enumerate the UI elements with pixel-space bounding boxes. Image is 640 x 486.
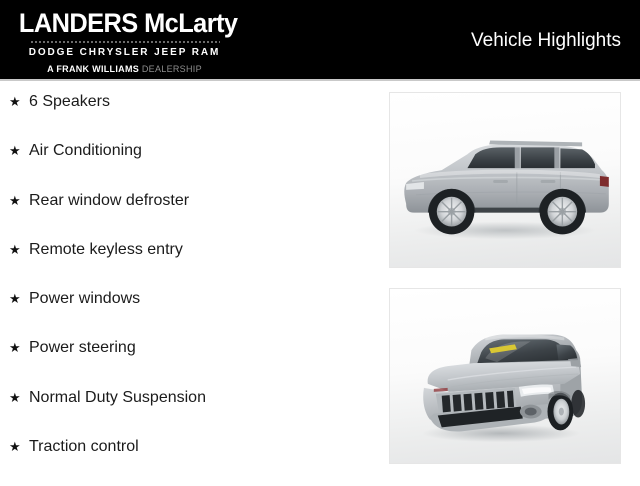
dealer-logo-tagline-strong: A FRANK WILLIAMS (47, 64, 139, 74)
feature-label: Rear window defroster (29, 191, 189, 211)
list-item: ★ Power steering (0, 338, 380, 387)
star-bullet-icon: ★ (9, 240, 21, 260)
feature-label: Normal Duty Suspension (29, 388, 206, 408)
list-item: ★ 6 Speakers (0, 92, 380, 141)
vehicle-front-three-quarter-illustration (390, 289, 620, 463)
star-bullet-icon: ★ (9, 338, 21, 358)
star-bullet-icon: ★ (9, 289, 21, 309)
list-item: ★ Normal Duty Suspension (0, 388, 380, 437)
vehicle-photo-side-profile[interactable] (389, 92, 621, 268)
list-item: ★ Rear window defroster (0, 191, 380, 240)
page-header: LANDERS McLarty DODGE CHRYSLER JEEP RAM … (0, 0, 640, 79)
dotted-divider-icon (30, 41, 220, 43)
list-item: ★ Air Conditioning (0, 141, 380, 190)
dealer-logo: LANDERS McLarty DODGE CHRYSLER JEEP RAM … (17, 8, 232, 75)
feature-label: Power steering (29, 338, 136, 358)
dealer-logo-tagline-light: DEALERSHIP (142, 64, 202, 74)
feature-label: Air Conditioning (29, 141, 142, 161)
dealer-logo-brands: DODGE CHRYSLER JEEP RAM (17, 47, 232, 59)
star-bullet-icon: ★ (9, 191, 21, 211)
vehicle-highlights-slide: LANDERS McLarty DODGE CHRYSLER JEEP RAM … (0, 0, 640, 480)
list-item: ★ Power windows (0, 289, 380, 338)
dealer-logo-wordmark: LANDERS McLarty (17, 8, 219, 38)
star-bullet-icon: ★ (9, 388, 21, 408)
dealer-logo-tagline: A FRANK WILLIAMS DEALERSHIP (17, 64, 232, 75)
feature-label: Traction control (29, 437, 139, 457)
header-divider (0, 79, 640, 81)
vehicle-side-profile-illustration (390, 93, 620, 267)
star-bullet-icon: ★ (9, 437, 21, 457)
star-bullet-icon: ★ (9, 141, 21, 161)
vehicle-photo-front-three-quarter[interactable] (389, 288, 621, 464)
page-title: Vehicle Highlights (471, 29, 621, 52)
feature-label: Power windows (29, 289, 140, 309)
vehicle-feature-list: ★ 6 Speakers ★ Air Conditioning ★ Rear w… (0, 92, 380, 486)
list-item: ★ Remote keyless entry (0, 240, 380, 289)
feature-label: 6 Speakers (29, 92, 110, 112)
star-bullet-icon: ★ (9, 92, 21, 112)
list-item: ★ Traction control (0, 437, 380, 486)
feature-label: Remote keyless entry (29, 240, 183, 260)
